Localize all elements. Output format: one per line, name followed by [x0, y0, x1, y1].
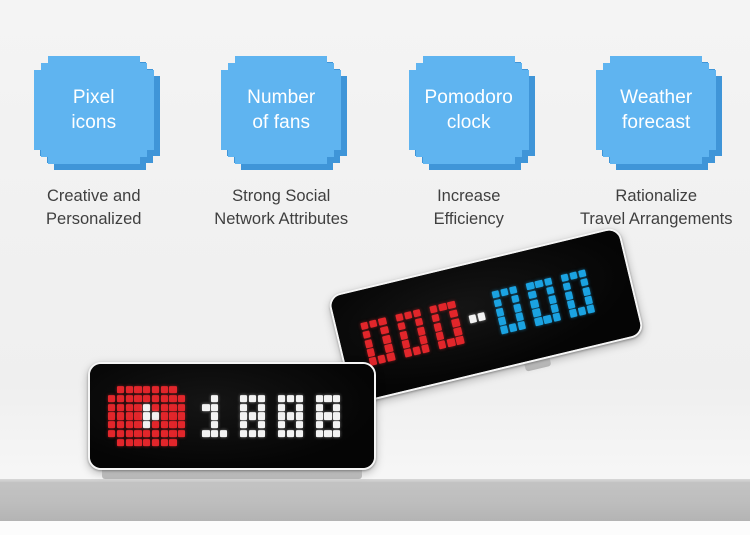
display-pixel [161, 395, 168, 402]
display-pixel [511, 295, 520, 304]
display-pixel [384, 344, 393, 353]
display-pixel [419, 335, 428, 344]
display-pixel [278, 404, 285, 411]
display-pixel [169, 421, 176, 428]
shelf-surface [0, 482, 750, 521]
display-pixel [211, 421, 218, 428]
display-pixel [513, 303, 522, 312]
display-pixel [532, 308, 541, 317]
display-pixel [258, 395, 265, 402]
caption-line-1: Rationalize [580, 185, 733, 208]
feature-caption: Rationalize Travel Arrangements [580, 185, 733, 232]
display-digit [202, 395, 227, 437]
display-pixel [202, 421, 209, 428]
display-pixel [117, 395, 124, 402]
pixel-badge-shadow-segment [54, 163, 146, 170]
display-pixel [296, 395, 303, 402]
display-pixel [546, 286, 555, 295]
caption-line-2: Network Attributes [214, 208, 348, 231]
display-pixel [498, 317, 507, 326]
display-pixel [369, 319, 378, 328]
display-pixel [447, 301, 456, 310]
display-pixel [550, 304, 559, 313]
display-pixel [117, 412, 124, 419]
pixel-badge-label: Number of fans [221, 56, 341, 164]
display-pixel [397, 322, 406, 331]
badge-line-2: clock [447, 110, 491, 135]
pixel-badge: Number of fans [221, 56, 341, 164]
display-pixel [316, 395, 323, 402]
display-digit-right [491, 286, 526, 334]
display-pixel [240, 421, 247, 428]
display-pixel [371, 328, 380, 337]
display-pixel [296, 421, 303, 428]
display-pixel [117, 404, 124, 411]
feature-item-pomodoro-clock[interactable]: Pomodoro clock Increase Efficiency [375, 56, 563, 232]
display-pixel [404, 311, 413, 320]
display-pixel [445, 329, 454, 338]
display-pixel [417, 327, 426, 336]
display-pixel [240, 395, 247, 402]
display-pixel [509, 286, 518, 295]
display-pixel [296, 404, 303, 411]
display-pixel [584, 296, 593, 305]
display-pixel [436, 331, 445, 340]
badge-line-2: forecast [622, 110, 690, 135]
display-pixel [287, 412, 294, 419]
display-pixel [258, 430, 265, 437]
display-pixel [429, 305, 438, 314]
display-pixel [178, 439, 185, 446]
product-feature-banner: Pixel icons Creative and Personalized Nu… [0, 0, 750, 535]
badge-line-1: Pomodoro [425, 85, 513, 110]
caption-line-1: Strong Social [214, 185, 348, 208]
display-pixel [152, 430, 159, 437]
display-pixel [220, 404, 227, 411]
caption-line-1: Increase [434, 185, 504, 208]
caption-line-1: Creative and [46, 185, 141, 208]
display-pixel [143, 412, 150, 419]
feature-caption: Increase Efficiency [434, 185, 504, 232]
display-pixel [544, 278, 553, 287]
badge-line-1: Number [247, 85, 315, 110]
display-pixel [316, 421, 323, 428]
display-pixel [378, 317, 387, 326]
display-pixel [406, 320, 415, 329]
display-pixel [178, 386, 185, 393]
display-pixel [202, 395, 209, 402]
display-pixel [287, 421, 294, 428]
display-pixel [126, 386, 133, 393]
display-pixel [108, 386, 115, 393]
badge-line-1: Weather [620, 85, 692, 110]
display-pixel [117, 386, 124, 393]
display-pixel [565, 291, 574, 300]
display-pixel [249, 430, 256, 437]
display-pixel [143, 395, 150, 402]
display-pixel [143, 404, 150, 411]
pixel-clock-front[interactable] [88, 362, 376, 470]
display-pixel [278, 430, 285, 437]
display-pixel [134, 404, 141, 411]
display-pixel [152, 439, 159, 446]
display-pixel [178, 430, 185, 437]
display-pixel [515, 312, 524, 321]
display-pixel [434, 323, 443, 332]
display-pixel [240, 412, 247, 419]
display-pixel [502, 297, 511, 306]
display-pixel [108, 404, 115, 411]
display-pixel [202, 412, 209, 419]
display-pixel [468, 314, 477, 323]
pixel-badge: Pixel icons [34, 56, 154, 164]
display-pixel [333, 412, 340, 419]
pixel-badge-shadow-segment [616, 163, 708, 170]
display-pixel [220, 421, 227, 428]
display-pixel [380, 326, 389, 335]
display-pixel [211, 412, 218, 419]
display-pixel [258, 404, 265, 411]
display-pixel [360, 322, 369, 331]
display-pixel [576, 298, 585, 307]
display-pixel [412, 309, 421, 318]
display-pixel [451, 318, 460, 327]
badge-line-2: of fans [252, 110, 310, 135]
youtube-play-icon [108, 386, 185, 446]
display-pixel [548, 295, 557, 304]
display-pixel [161, 412, 168, 419]
display-pixel [161, 421, 168, 428]
pixel-badge: Pomodoro clock [409, 56, 529, 164]
display-pixel [316, 404, 323, 411]
display-pixel [134, 412, 141, 419]
display-pixel [161, 430, 168, 437]
display-pixel [362, 330, 371, 339]
display-pixel [324, 395, 331, 402]
display-pixel [333, 404, 340, 411]
display-pixel [493, 299, 502, 308]
display-pixel [530, 299, 539, 308]
display-pixel [491, 290, 500, 299]
display-pixel [220, 412, 227, 419]
display-pixel [134, 430, 141, 437]
display-digit [278, 395, 303, 437]
feature-caption: Creative and Personalized [46, 185, 141, 232]
display-pixel [152, 395, 159, 402]
display-pixel [401, 340, 410, 349]
feature-list: Pixel icons Creative and Personalized Nu… [0, 56, 750, 232]
display-pixel [375, 346, 384, 355]
display-digit-left [429, 301, 464, 349]
display-pixel [108, 395, 115, 402]
display-pixel [108, 439, 115, 446]
display-pixel [410, 338, 419, 347]
display-pixel [108, 421, 115, 428]
display-pixel [578, 269, 587, 278]
display-pixel [178, 412, 185, 419]
display-pixel [178, 395, 185, 402]
display-pixel [324, 430, 331, 437]
display-separator [468, 312, 487, 323]
display-pixel [169, 412, 176, 419]
display-pixel [440, 312, 449, 321]
display-pixel [178, 421, 185, 428]
display-pixel [134, 439, 141, 446]
shelf-base [0, 521, 750, 535]
display-pixel [143, 439, 150, 446]
display-pixel [117, 439, 124, 446]
display-pixel [296, 412, 303, 419]
display-pixel [541, 306, 550, 315]
badge-line-2: icons [71, 110, 116, 135]
front-display-matrix [108, 386, 340, 446]
display-pixel [249, 395, 256, 402]
display-pixel [169, 439, 176, 446]
display-pixel [178, 404, 185, 411]
display-pixel [574, 289, 583, 298]
display-pixel [249, 404, 256, 411]
display-pixel [333, 421, 340, 428]
display-pixel [500, 288, 509, 297]
display-pixel [249, 412, 256, 419]
display-pixel [477, 312, 486, 321]
device-body [88, 362, 376, 470]
display-pixel [108, 430, 115, 437]
display-pixel [161, 439, 168, 446]
display-digit [316, 395, 341, 437]
display-pixel [211, 395, 218, 402]
display-pixel [143, 386, 150, 393]
display-pixel [278, 421, 285, 428]
display-pixel [161, 404, 168, 411]
display-pixel [152, 386, 159, 393]
feature-item-weather-forecast[interactable]: Weather forecast Rationalize Travel Arra… [563, 56, 750, 232]
display-pixel [126, 395, 133, 402]
display-pixel [373, 337, 382, 346]
display-pixel [580, 278, 589, 287]
display-pixel [449, 310, 458, 319]
caption-line-2: Efficiency [434, 208, 504, 231]
display-pixel [571, 280, 580, 289]
display-pixel [324, 404, 331, 411]
display-pixel [152, 421, 159, 428]
display-pixel [399, 331, 408, 340]
display-pixel [240, 430, 247, 437]
display-pixel [143, 421, 150, 428]
display-pixel [367, 348, 376, 357]
display-pixel [202, 430, 209, 437]
display-pixel [287, 395, 294, 402]
display-pixel [526, 282, 535, 291]
pixel-badge-shadow-segment [429, 163, 521, 170]
display-pixel [567, 300, 576, 309]
display-digit-left [395, 309, 430, 357]
feature-item-pixel-icons[interactable]: Pixel icons Creative and Personalized [0, 56, 188, 232]
display-pixel [169, 395, 176, 402]
display-pixel [296, 430, 303, 437]
display-pixel [504, 306, 513, 315]
pixel-badge-label: Pomodoro clock [409, 56, 529, 164]
display-pixel [134, 395, 141, 402]
pixel-badge-label: Pixel icons [34, 56, 154, 164]
display-pixel [563, 282, 572, 291]
display-pixel [240, 404, 247, 411]
display-pixel [169, 430, 176, 437]
display-pixel [161, 386, 168, 393]
display-pixel [278, 395, 285, 402]
feature-item-number-of-fans[interactable]: Number of fans Strong Social Network Att… [188, 56, 376, 232]
display-pixel [126, 404, 133, 411]
display-pixel [249, 421, 256, 428]
display-digit-right [526, 278, 561, 326]
display-pixel [537, 288, 546, 297]
display-pixel [453, 327, 462, 336]
display-pixel [258, 421, 265, 428]
display-pixel [220, 430, 227, 437]
display-pixel [152, 412, 159, 419]
display-pixel [143, 430, 150, 437]
display-pixel [126, 412, 133, 419]
display-pixel [258, 412, 265, 419]
display-pixel [408, 329, 417, 338]
display-pixel [364, 339, 373, 348]
display-pixel [333, 395, 340, 402]
display-pixel [333, 430, 340, 437]
display-pixel [539, 297, 548, 306]
display-pixel [528, 291, 537, 300]
display-pixel [324, 421, 331, 428]
display-pixel [560, 273, 569, 282]
display-pixel [134, 421, 141, 428]
pixel-badge-label: Weather forecast [596, 56, 716, 164]
display-pixel [169, 404, 176, 411]
display-pixel [569, 271, 578, 280]
display-pixel [202, 404, 209, 411]
display-pixel [382, 335, 391, 344]
display-pixel [126, 439, 133, 446]
display-pixel [415, 318, 424, 327]
display-pixel [432, 314, 441, 323]
feature-caption: Strong Social Network Attributes [214, 185, 348, 232]
caption-line-2: Travel Arrangements [580, 208, 733, 231]
display-pixel [442, 320, 451, 329]
pixel-badge-shadow-segment [241, 163, 333, 170]
display-pixel [438, 303, 447, 312]
display-pixel [220, 395, 227, 402]
display-pixel [126, 430, 133, 437]
display-pixel [582, 287, 591, 296]
pixel-badge: Weather forecast [596, 56, 716, 164]
display-pixel [108, 412, 115, 419]
display-pixel [211, 404, 218, 411]
display-pixel [496, 308, 505, 317]
display-pixel [316, 412, 323, 419]
display-pixel [117, 421, 124, 428]
display-pixel [169, 386, 176, 393]
caption-line-2: Personalized [46, 208, 141, 231]
display-pixel [507, 314, 516, 323]
display-pixel [134, 386, 141, 393]
display-pixel [535, 280, 544, 289]
display-digit [240, 395, 265, 437]
display-pixel [278, 412, 285, 419]
display-pixel [395, 313, 404, 322]
display-pixel [287, 404, 294, 411]
display-pixel [316, 430, 323, 437]
badge-line-1: Pixel [73, 85, 115, 110]
display-pixel [117, 430, 124, 437]
display-pixel [126, 421, 133, 428]
display-pixel [324, 412, 331, 419]
display-pixel [287, 430, 294, 437]
display-pixel [152, 404, 159, 411]
display-pixel [211, 430, 218, 437]
